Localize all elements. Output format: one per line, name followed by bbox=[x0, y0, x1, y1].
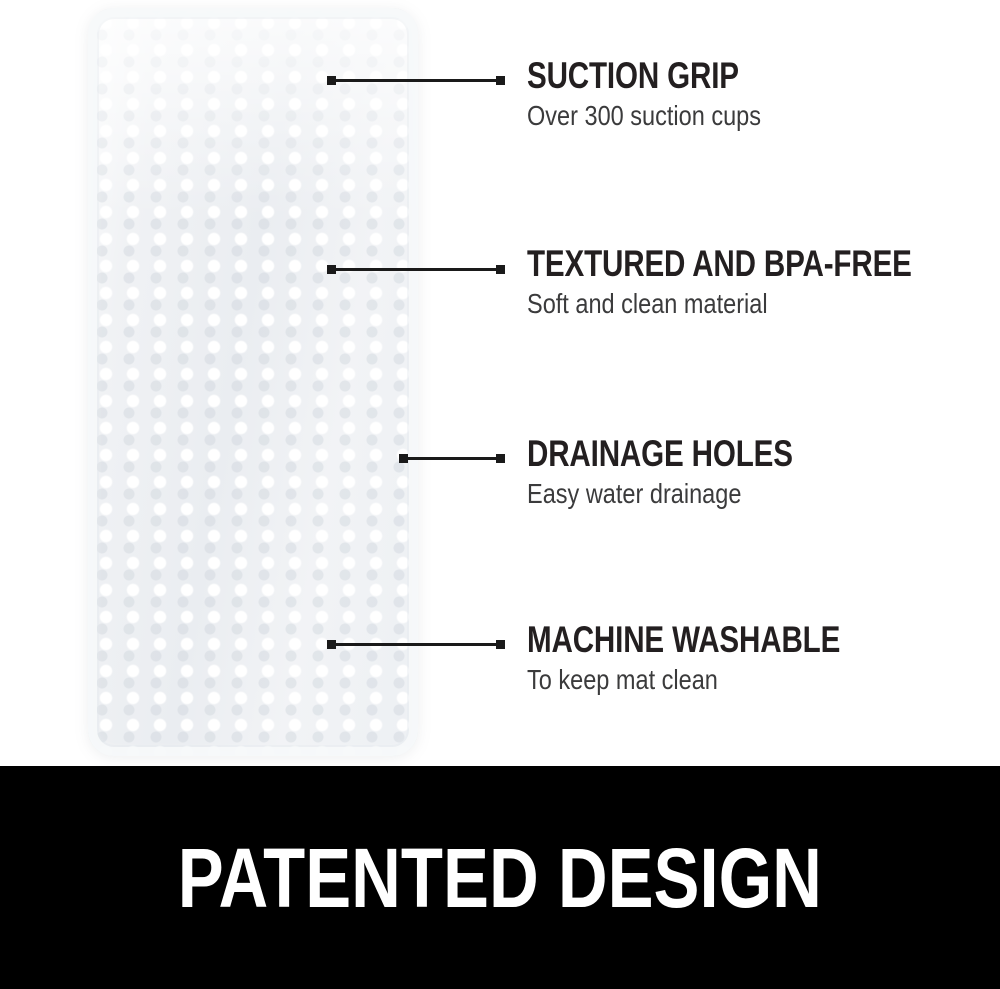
leader-cap-end-icon bbox=[496, 76, 505, 85]
product-photo-area: SUCTION GRIP Over 300 suction cups TEXTU… bbox=[0, 0, 1000, 766]
callout-subtitle: Over 300 suction cups bbox=[527, 101, 761, 131]
leader-line-machine-washable bbox=[328, 643, 504, 646]
callout-subtitle: Soft and clean material bbox=[527, 289, 931, 319]
leader-cap-start-icon bbox=[327, 265, 336, 274]
callout-title: TEXTURED AND BPA-FREE bbox=[527, 245, 912, 283]
leader-cap-end-icon bbox=[496, 454, 505, 463]
leader-cap-start-icon bbox=[327, 76, 336, 85]
leader-line-suction-grip bbox=[328, 79, 504, 82]
bottom-banner: PATENTED DESIGN bbox=[0, 766, 1000, 989]
callout-subtitle: To keep mat clean bbox=[527, 665, 856, 695]
callout-title: SUCTION GRIP bbox=[527, 57, 750, 95]
callout-suction-grip: SUCTION GRIP Over 300 suction cups bbox=[527, 57, 806, 131]
leader-line-textured-and-bpa-free bbox=[328, 268, 504, 271]
callout-title: MACHINE WASHABLE bbox=[527, 621, 840, 659]
leader-cap-start-icon bbox=[399, 454, 408, 463]
banner-title: PATENTED DESIGN bbox=[178, 835, 822, 921]
callout-title: DRAINAGE HOLES bbox=[527, 435, 793, 473]
leader-line-drainage-holes bbox=[400, 457, 504, 460]
callout-subtitle: Easy water drainage bbox=[527, 479, 806, 509]
leader-cap-start-icon bbox=[327, 640, 336, 649]
callout-drainage-holes: DRAINAGE HOLES Easy water drainage bbox=[527, 435, 859, 509]
callout-machine-washable: MACHINE WASHABLE To keep mat clean bbox=[527, 621, 918, 695]
infographic-page: SUCTION GRIP Over 300 suction cups TEXTU… bbox=[0, 0, 1000, 989]
leader-cap-end-icon bbox=[496, 265, 505, 274]
callout-textured-and-bpa-free: TEXTURED AND BPA-FREE Soft and clean mat… bbox=[527, 245, 1000, 319]
leader-cap-end-icon bbox=[496, 640, 505, 649]
